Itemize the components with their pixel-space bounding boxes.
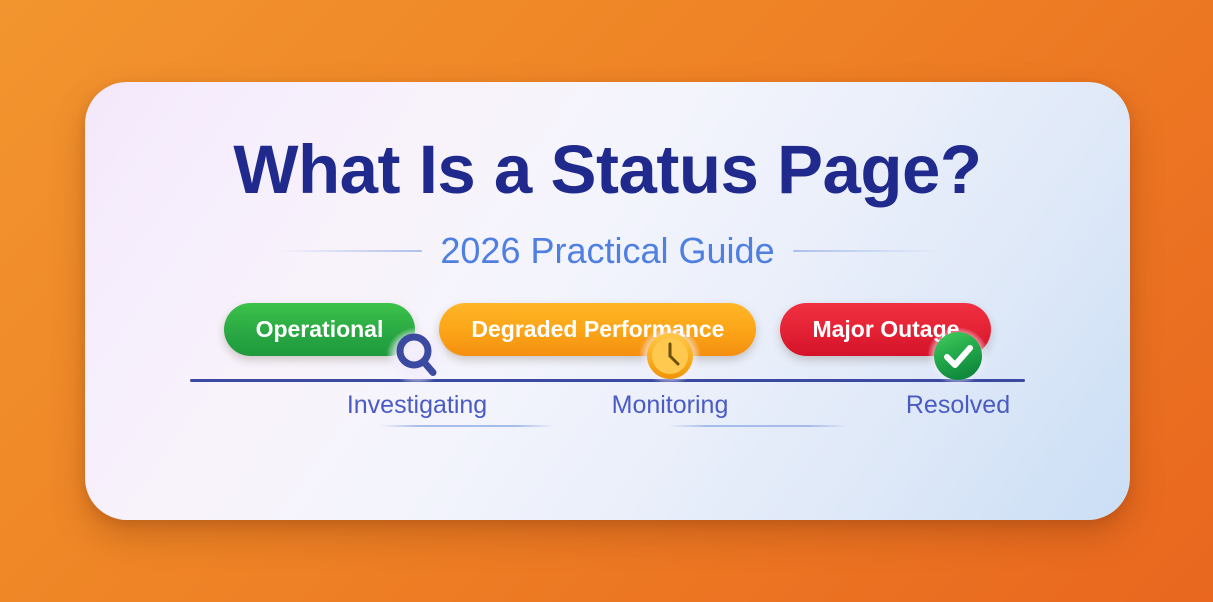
timeline-label-connector-2: [668, 425, 848, 427]
timeline-step-label-resolved: Resolved: [906, 391, 1010, 420]
clock-icon-wrap: [643, 329, 697, 383]
timeline-step-investigating[interactable]: Investigating: [317, 329, 517, 420]
magnifying-glass-icon-wrap: [390, 329, 444, 383]
clock-icon: [646, 332, 694, 380]
page-title: What Is a Status Page?: [85, 130, 1130, 209]
timeline-step-monitoring[interactable]: Monitoring: [570, 329, 770, 420]
check-circle-icon-wrap: [931, 329, 985, 383]
subtitle-row: 2026 Practical Guide: [85, 230, 1130, 272]
timeline-step-resolved[interactable]: Resolved: [858, 329, 1058, 420]
subtitle-divider-right: [793, 250, 938, 252]
status-page-card: What Is a Status Page? 2026 Practical Gu…: [85, 82, 1130, 520]
check-circle-icon: [933, 331, 983, 381]
page-subtitle: 2026 Practical Guide: [440, 230, 774, 272]
timeline-step-label-investigating: Investigating: [347, 391, 487, 420]
magnifying-glass-icon: [390, 329, 444, 383]
infographic-canvas: What Is a Status Page? 2026 Practical Gu…: [0, 0, 1213, 602]
timeline-step-label-monitoring: Monitoring: [612, 391, 729, 420]
subtitle-divider-left: [277, 250, 422, 252]
incident-timeline: Investigating: [190, 329, 1025, 439]
timeline-label-connector-1: [380, 425, 555, 427]
